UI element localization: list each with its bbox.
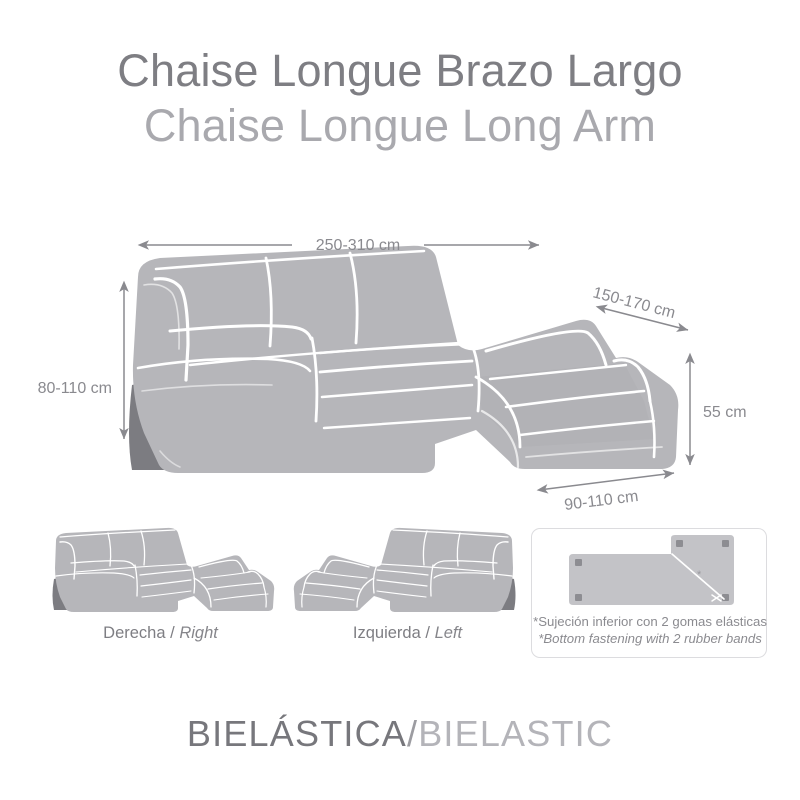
brand-label-separator: / [407,713,418,754]
variant-right-illustration [38,522,283,622]
fastening-notes: *Sujeción inferior con 2 gomas elásticas… [532,613,768,647]
variant-right-label-spanish: Derecha [103,624,165,642]
dimension-height-chaise-label: 55 cm [703,404,747,421]
variant-left-label-separator: / [425,624,430,642]
page-title: Chaise Longue Brazo Largo Chaise Longue … [0,44,800,154]
variant-left-body [294,528,513,612]
brand-label: BIELÁSTICA/BIELASTIC [0,713,800,755]
page-title-english: Chaise Longue Long Arm [0,98,800,154]
dimension-width-chaise-label: 90-110 cm [563,488,639,514]
variant-left-illustration [285,522,530,622]
variant-left-label: Izquierda / Left [285,624,530,643]
variant-left-label-english: Left [435,624,463,642]
band-asterisk-marker: * [697,569,702,581]
variant-left: Izquierda / Left [285,522,530,652]
fastening-note-english: *Bottom fastening with 2 rubber bands [532,630,768,647]
fastening-info-box: * *Sujeción inferior con 2 gomas elástic… [531,528,767,658]
dimension-width-top-label: 250-310 cm [316,237,401,254]
variant-right-body [55,528,274,612]
brand-label-spanish: BIELÁSTICA [187,713,407,754]
footprint-shape [569,535,734,605]
dimension-width-top: 250-310 cm [140,237,539,254]
sofa-illustration [129,246,678,473]
brand-label-english: BIELASTIC [418,713,613,754]
variant-right-label-english: Right [179,624,218,642]
dimension-width-chaise: 90-110 cm [539,473,674,514]
corner-square-top-right [722,540,729,547]
product-spec-sheet: Chaise Longue Brazo Largo Chaise Longue … [0,0,800,800]
variant-right: Derecha / Right [38,522,283,652]
corner-square-top-inner [676,540,683,547]
fastening-footprint-diagram: * [534,531,766,615]
main-diagram: 250-310 cm 80-110 cm 150-170 cm 55 cm 90… [20,225,780,515]
variant-left-label-spanish: Izquierda [353,624,421,642]
dimension-depth-chaise: 150-170 cm [591,284,688,330]
corner-square-top-left [575,559,582,566]
dimension-height-left-label: 80-110 cm [38,380,112,397]
variant-right-label: Derecha / Right [38,624,283,643]
variant-right-label-separator: / [170,624,175,642]
fastening-note-spanish: *Sujeción inferior con 2 gomas elásticas [532,613,768,630]
dimension-height-chaise: 55 cm [690,355,747,465]
corner-square-bottom-left [575,594,582,601]
page-title-spanish: Chaise Longue Brazo Largo [0,44,800,98]
dimension-height-left: 80-110 cm [38,283,124,439]
